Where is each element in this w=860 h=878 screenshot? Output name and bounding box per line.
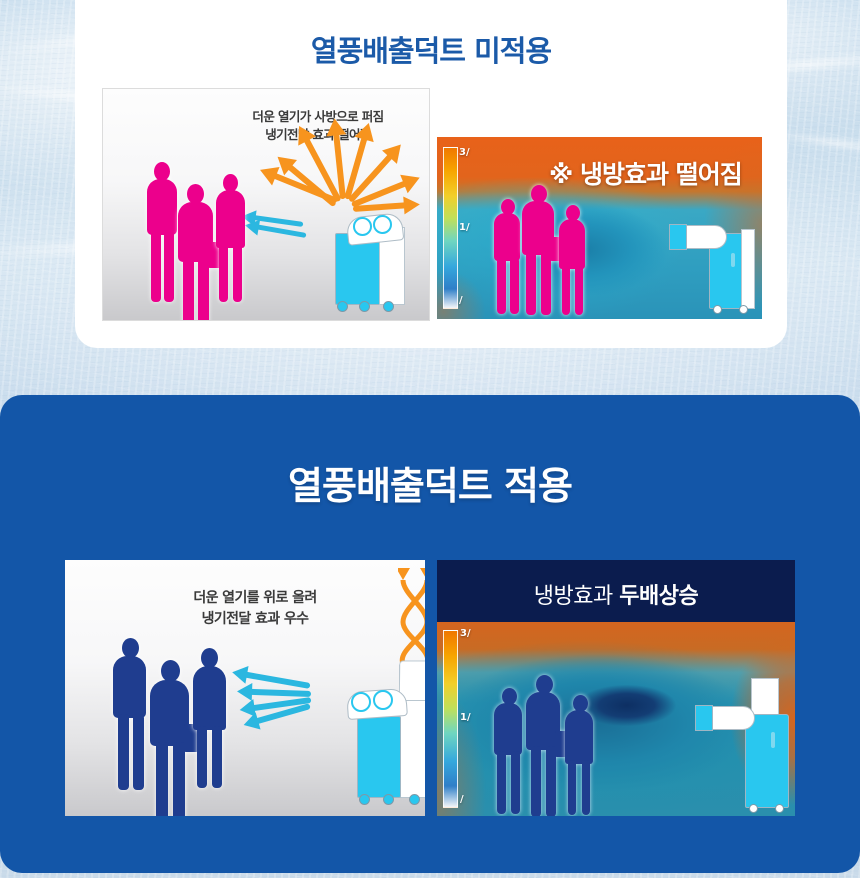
person-silhouette xyxy=(520,185,558,315)
person-silhouette xyxy=(563,695,597,815)
duct-outlet-ring xyxy=(373,690,393,710)
thermal-scale-label: / xyxy=(460,794,464,805)
page-title-with-duct: 열풍배출덕트 적용 xyxy=(0,455,860,510)
duct-outlet-ring xyxy=(353,217,372,236)
thermal-color-scale xyxy=(443,147,458,309)
person-silhouette xyxy=(524,675,564,816)
portable-ac-unit xyxy=(331,207,409,311)
person-silhouette xyxy=(110,638,150,790)
hot-air-arrow xyxy=(334,113,343,199)
illustration-with-duct: 더운 열기를 위로 올려 냉기전달 효과 우수 xyxy=(65,560,425,816)
duct-outlet-ring xyxy=(351,692,371,712)
thermal-scale-label: / xyxy=(459,295,463,306)
illustration-without-duct: 더운 열기가 사방으로 퍼짐 냉기전달 효과 떨어짐 xyxy=(102,88,430,321)
thermal-overlay-text-without-duct: ※ 냉방효과 떨어짐 xyxy=(549,155,742,191)
thermal-color-scale xyxy=(443,630,458,808)
portable-ac-unit xyxy=(323,656,425,808)
thermal-header-bold: 두배상승 xyxy=(619,584,698,609)
portable-ac-unit xyxy=(669,217,757,315)
person-silhouette xyxy=(148,660,194,816)
cool-air-arrow xyxy=(241,225,306,236)
thermal-scale-label: 1/ xyxy=(460,712,471,723)
person-silhouette xyxy=(213,174,249,302)
portable-ac-unit xyxy=(695,678,795,816)
thermal-scale-label: 1/ xyxy=(459,222,470,233)
illustration-caption-without-duct-line1: 더운 열기가 사방으로 퍼짐 xyxy=(213,109,423,125)
thermal-header-text-with-duct: 냉방효과 두배상승 xyxy=(437,578,795,610)
page-title-without-duct: 열풍배출덕트 미적용 xyxy=(75,28,787,70)
thermal-header-normal: 냉방효과 xyxy=(534,584,619,609)
thermal-image-with-duct: 냉방효과 두배상승 3/ 1/ / xyxy=(437,560,795,816)
illustration-caption-with-duct-line1: 더운 열기를 위로 올려 xyxy=(155,590,355,608)
thermal-scale-label: 3/ xyxy=(459,147,470,158)
person-silhouette xyxy=(557,205,589,315)
duct-outlet-ring xyxy=(373,215,392,234)
person-silhouette xyxy=(175,184,217,321)
illustration-caption-with-duct-line2: 냉기전달 효과 우수 xyxy=(155,611,355,629)
thermal-image-without-duct: 3/ 1/ / ※ 냉방효과 떨어짐 xyxy=(437,137,762,319)
person-silhouette xyxy=(190,648,230,788)
cool-air-arrow xyxy=(231,691,311,694)
person-silhouette xyxy=(492,688,526,814)
thermal-scale-label: 3/ xyxy=(460,628,471,639)
